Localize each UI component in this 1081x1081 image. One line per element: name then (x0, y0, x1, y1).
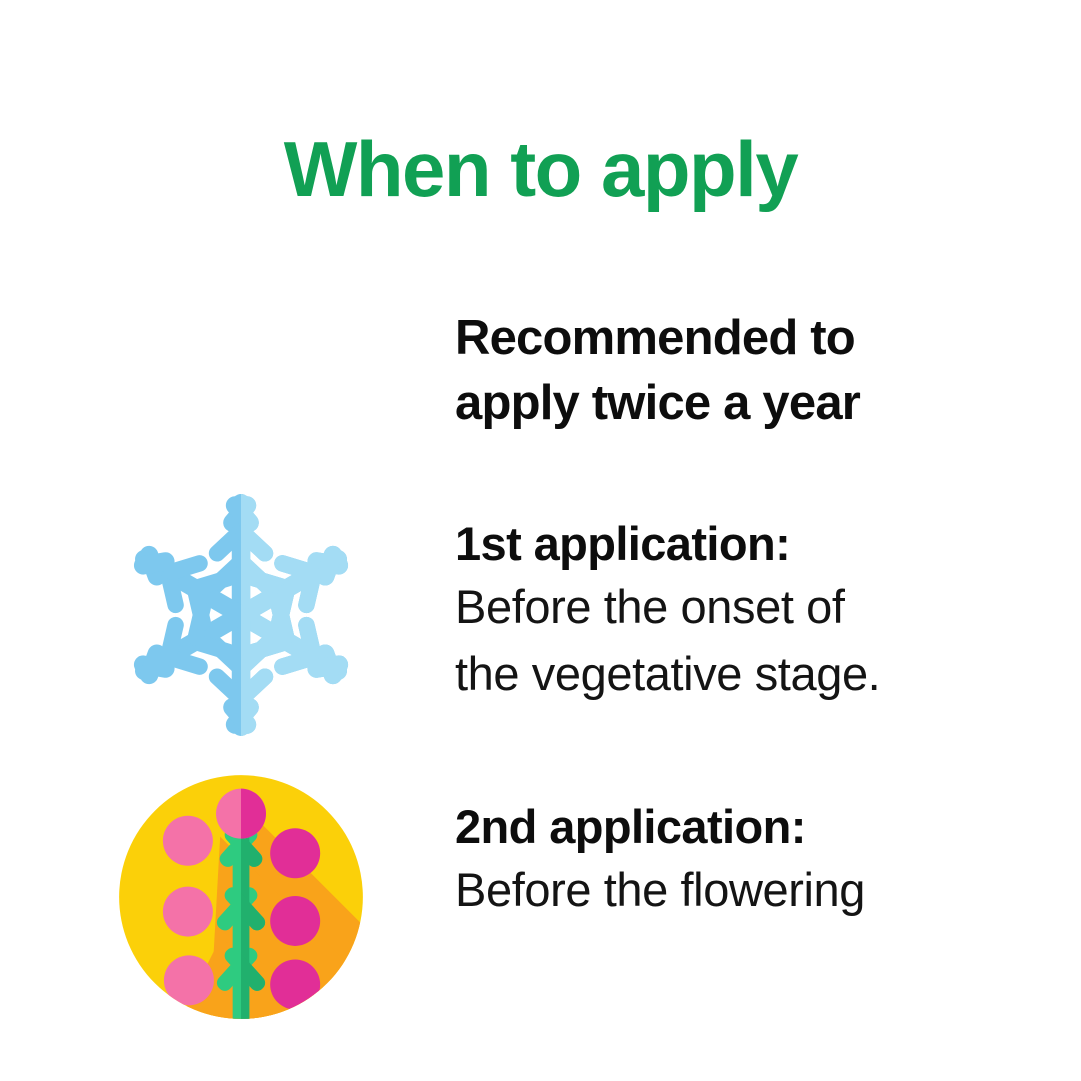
lead-line-1: Recommended to (455, 306, 1035, 371)
application-block-1: 1st application: Before the onset of the… (455, 513, 1035, 708)
application-1-body-line-2: the vegetative stage. (455, 641, 1035, 708)
application-1-body-line-1: Before the onset of (455, 574, 1035, 641)
snowflake-highlight (118, 492, 364, 737)
snowflake-icon (118, 492, 364, 738)
application-1-body: Before the onset of the vegetative stage… (455, 574, 1035, 707)
application-1-heading: 1st application: (455, 513, 1035, 574)
page-title: When to apply (0, 130, 1081, 208)
flowering-plant-icon (116, 772, 366, 1022)
application-2-body-line-1: Before the flowering (455, 857, 1035, 924)
content-column: Recommended to apply twice a year 1st ap… (455, 306, 1035, 924)
lead-line-2: apply twice a year (455, 371, 1035, 436)
application-block-2: 2nd application: Before the flowering (455, 796, 1035, 924)
application-2-heading: 2nd application: (455, 796, 1035, 857)
poster-canvas: When to apply (0, 0, 1081, 1081)
lead-paragraph: Recommended to apply twice a year (455, 306, 1035, 435)
application-2-body: Before the flowering (455, 857, 1035, 924)
